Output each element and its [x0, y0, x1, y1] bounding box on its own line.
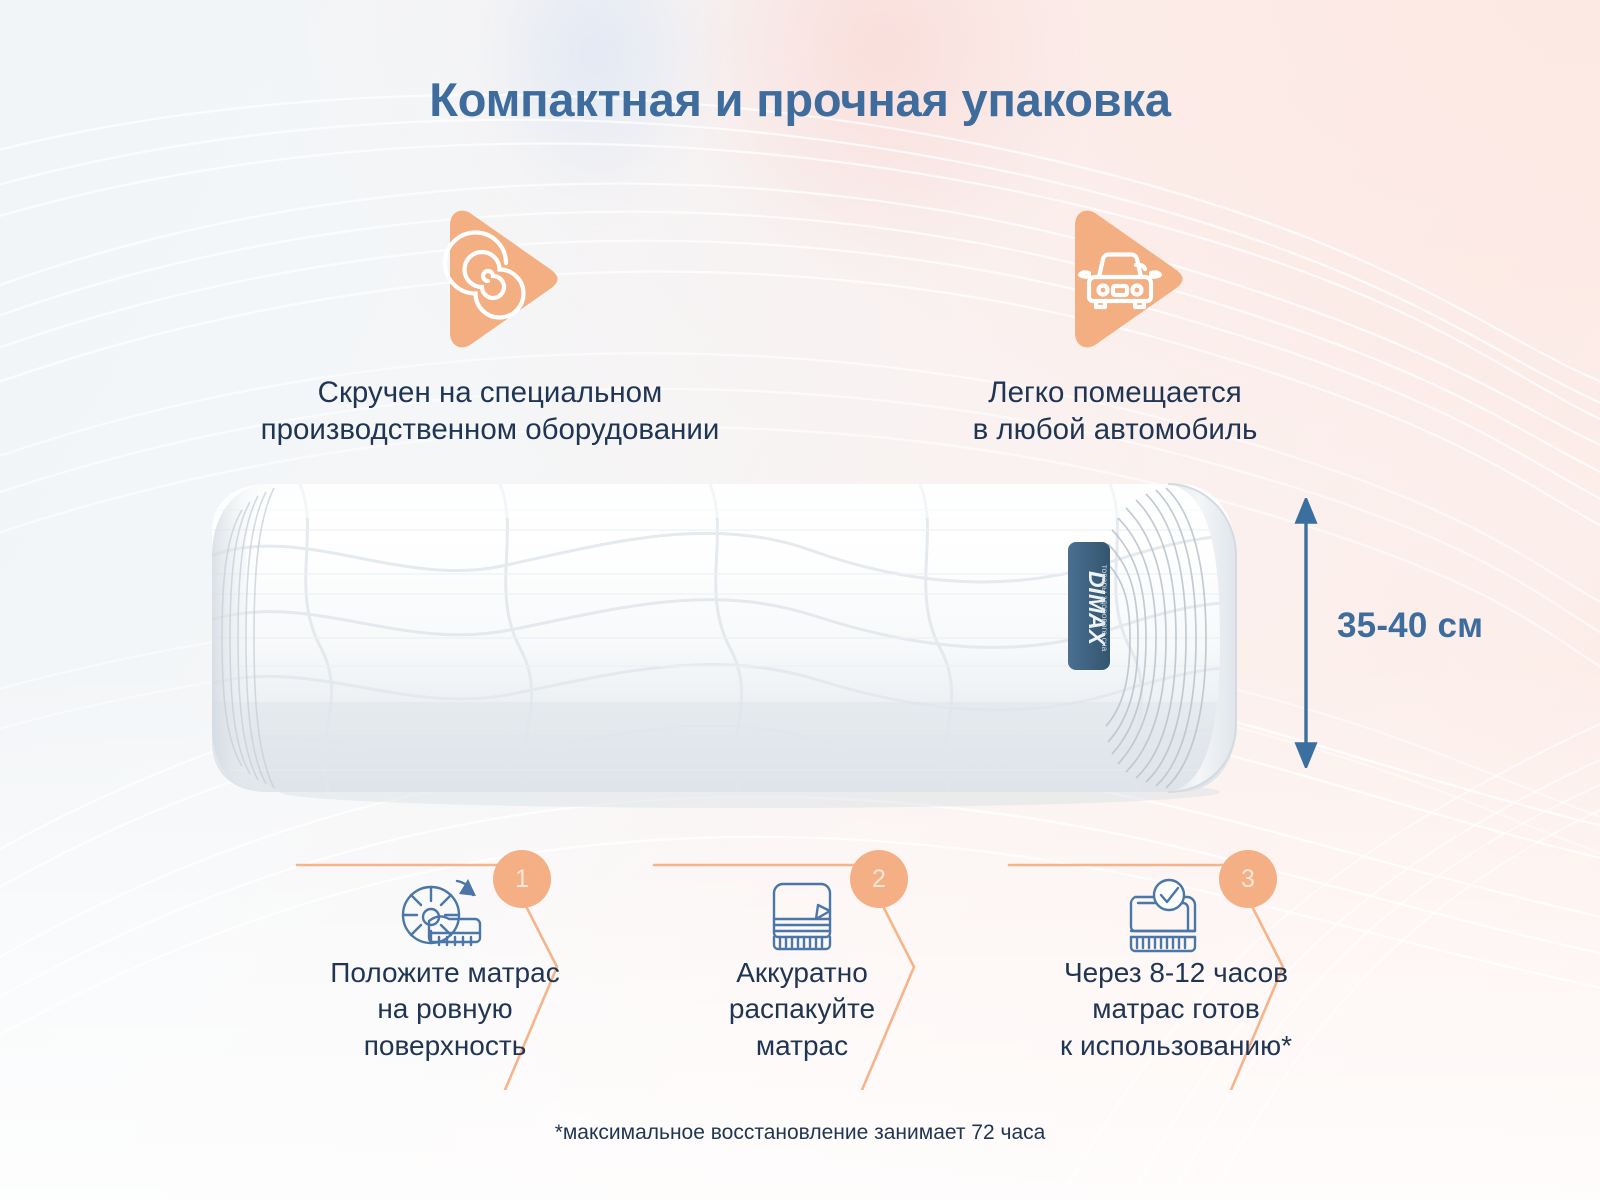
step-3: 3 Через 8-12 часов матрас готов к ис	[1007, 845, 1359, 1090]
footnote-text: *максимальное восстановление занимает 72…	[0, 1121, 1600, 1145]
feature-icon-badge-1	[170, 196, 810, 361]
page-title: Компактная и прочная упаковка	[0, 72, 1600, 127]
rolled-mattress-unroll-icon	[399, 875, 491, 959]
brand-tag: DIMAX товары здорового сна	[1068, 542, 1110, 670]
step-icon-1	[295, 875, 647, 959]
mattress-check-icon	[1125, 875, 1205, 959]
steps-row: 1 Положите матрас на ровную поверхно	[295, 845, 1305, 1090]
step-caption-3: Через 8-12 часов матрас готов к использо…	[1007, 955, 1359, 1064]
step-caption-2: Аккуратно распакуйте матрас	[652, 955, 1004, 1064]
dimension-label: 35-40 см	[1337, 606, 1483, 646]
mattress-unwrap-icon	[762, 875, 842, 959]
step-icon-2	[652, 875, 1004, 959]
rolled-mattress-image: DIMAX товары здорового сна	[150, 470, 1330, 810]
feature-icon-badge-2	[880, 196, 1350, 361]
feature-caption-2: Легко помещается в любой автомобиль	[880, 374, 1350, 449]
step-icon-3	[1007, 875, 1359, 959]
step-2: 2 Аккуратно распакуйте матрас	[652, 845, 1004, 1090]
step-caption-1: Положите матрас на ровную поверхность	[295, 955, 647, 1064]
feature-caption-1: Скручен на специальном производственном …	[170, 374, 810, 449]
triangle-right-badge-icon-2	[1035, 199, 1195, 359]
feature-block-rolled: Скручен на специальном производственном …	[170, 196, 810, 449]
infographic-canvas: Компактная и прочная упаковка Скручен на…	[0, 0, 1600, 1200]
feature-block-car: Легко помещается в любой автомобиль	[880, 196, 1350, 449]
step-1: 1 Положите матрас на ровную поверхно	[295, 845, 647, 1090]
dimension-annotation: 35-40 см	[1285, 498, 1585, 768]
triangle-right-badge-icon	[410, 199, 570, 359]
brand-tag-tagline: товары здорового сна	[1100, 565, 1110, 652]
